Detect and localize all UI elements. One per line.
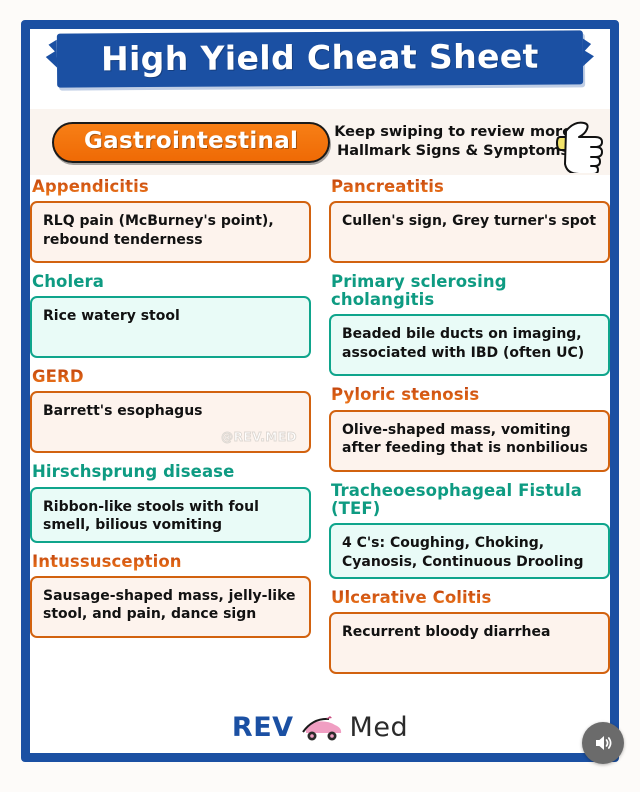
entry-title: Cholera — [32, 273, 311, 291]
right-column: Pancreatitis Cullen's sign, Grey turner'… — [329, 178, 610, 684]
brand-logo: REV Med — [0, 712, 640, 743]
entry-card: Ribbon-like stools with foul smell, bili… — [30, 487, 311, 543]
entry-card-text: Barrett's esophagus — [43, 402, 203, 421]
entry-card: Sausage-shaped mass, jelly-like stool, a… — [30, 576, 311, 638]
entry-primary-sclerosing-cholangitis: Primary sclerosing cholangitis Beaded bi… — [329, 273, 610, 376]
entry-card: Recurrent bloody diarrhea — [329, 612, 610, 674]
entry-title: Pancreatitis — [331, 178, 610, 196]
entry-gerd: GERD Barrett's esophagus @REV.MED — [30, 368, 311, 453]
page-title: High Yield Cheat Sheet — [101, 40, 539, 76]
entry-card: Barrett's esophagus @REV.MED — [30, 391, 311, 453]
entry-cholera: Cholera Rice watery stool — [30, 273, 311, 358]
entries-grid: Appendicitis RLQ pain (McBurney's point)… — [30, 178, 610, 684]
audio-toggle-button[interactable] — [582, 722, 624, 764]
entry-hirschsprung-disease: Hirschsprung disease Ribbon-like stools … — [30, 463, 311, 542]
entry-card-text: Rice watery stool — [43, 307, 180, 326]
swipe-note-line2: Hallmark Signs & Symptoms — [330, 142, 576, 161]
entry-title: GERD — [32, 368, 311, 386]
entry-card-text: Sausage-shaped mass, jelly-like stool, a… — [43, 587, 298, 625]
entry-appendicitis: Appendicitis RLQ pain (McBurney's point)… — [30, 178, 311, 263]
cheat-sheet-page: High Yield Cheat Sheet Gastrointestinal … — [0, 0, 640, 792]
header-band: Gastrointestinal Keep swiping to review … — [30, 109, 610, 175]
entry-title: Tracheoesophageal Fistula (TEF) — [331, 482, 610, 518]
speaker-icon — [592, 732, 614, 754]
logo-text-rev: REV — [232, 712, 294, 743]
entry-card: RLQ pain (McBurney's point), rebound ten… — [30, 201, 311, 263]
category-badge[interactable]: Gastrointestinal — [52, 122, 330, 163]
entry-card-text: Ribbon-like stools with foul smell, bili… — [43, 498, 298, 536]
title-banner-brush: High Yield Cheat Sheet — [57, 30, 583, 87]
entry-pancreatitis: Pancreatitis Cullen's sign, Grey turner'… — [329, 178, 610, 263]
watermark: @REV.MED — [221, 430, 297, 444]
car-icon — [299, 713, 345, 743]
entry-title: Pyloric stenosis — [331, 386, 610, 404]
entry-tracheoesophageal-fistula: Tracheoesophageal Fistula (TEF) 4 C's: C… — [329, 482, 610, 579]
entry-title: Intussusception — [32, 553, 311, 571]
entry-title: Appendicitis — [32, 178, 311, 196]
category-badge-label: Gastrointestinal — [84, 130, 298, 153]
left-column: Appendicitis RLQ pain (McBurney's point)… — [30, 178, 311, 684]
pointing-hand-icon — [554, 111, 616, 173]
entry-title: Hirschsprung disease — [32, 463, 311, 481]
entry-card-text: 4 C's: Coughing, Choking, Cyanosis, Cont… — [342, 534, 597, 572]
entry-ulcerative-colitis: Ulcerative Colitis Recurrent bloody diar… — [329, 589, 610, 674]
entry-title: Primary sclerosing cholangitis — [331, 273, 610, 309]
entry-title: Ulcerative Colitis — [331, 589, 610, 607]
entry-intussusception: Intussusception Sausage-shaped mass, jel… — [30, 553, 311, 638]
logo-text-med: Med — [350, 712, 409, 743]
entry-card-text: RLQ pain (McBurney's point), rebound ten… — [43, 212, 298, 250]
entry-card-text: Recurrent bloody diarrhea — [342, 623, 550, 642]
entry-card-text: Beaded bile ducts on imaging, associated… — [342, 325, 597, 363]
entry-card: Olive-shaped mass, vomiting after feedin… — [329, 410, 610, 472]
entry-card: Beaded bile ducts on imaging, associated… — [329, 314, 610, 376]
entry-card-text: Cullen's sign, Grey turner's spot — [342, 212, 596, 231]
entry-card: 4 C's: Coughing, Choking, Cyanosis, Cont… — [329, 523, 610, 579]
entry-card: Rice watery stool — [30, 296, 311, 358]
entry-card: Cullen's sign, Grey turner's spot — [329, 201, 610, 263]
entry-card-text: Olive-shaped mass, vomiting after feedin… — [342, 421, 597, 459]
title-banner: High Yield Cheat Sheet — [0, 32, 640, 86]
entry-pyloric-stenosis: Pyloric stenosis Olive-shaped mass, vomi… — [329, 386, 610, 471]
swipe-note-line1: Keep swiping to review more — [330, 123, 576, 142]
